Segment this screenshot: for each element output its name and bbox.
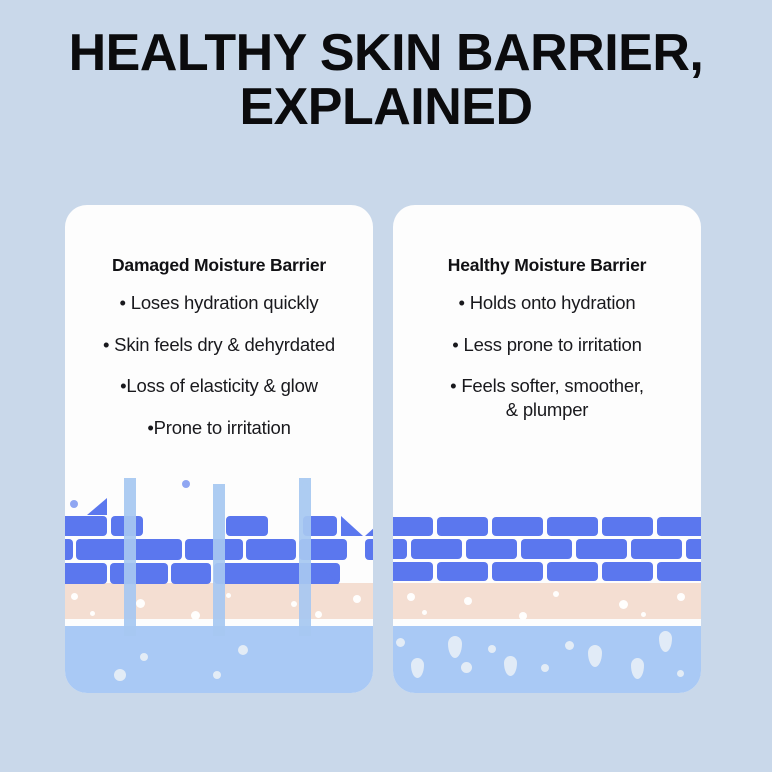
moisture-speck: [182, 480, 190, 488]
list-item: • Feels softer, smoother, & plumper: [403, 374, 691, 421]
moisture-speck: [191, 611, 200, 620]
water-speck: [677, 670, 684, 677]
moisture-speck: [519, 612, 527, 620]
water-speck: [213, 671, 221, 679]
brick: [631, 539, 682, 559]
list-item: • Loses hydration quickly: [75, 291, 363, 315]
moisture-speck: [619, 600, 628, 609]
brick: [602, 562, 653, 581]
brick: [437, 562, 488, 581]
arrow-shaft: [216, 497, 222, 636]
moisture-speck: [641, 612, 646, 617]
brick: [547, 517, 598, 536]
moisture-speck: [422, 610, 427, 615]
water-speck: [238, 645, 248, 655]
water-speck: [488, 645, 496, 653]
brick: [246, 539, 296, 560]
page-title: HEALTHY SKIN BARRIER, EXPLAINED: [0, 26, 772, 134]
brick: [547, 562, 598, 581]
brick: [492, 562, 543, 581]
moisture-speck: [90, 611, 95, 616]
list-item: • Less prone to irritation: [403, 333, 691, 357]
water-speck: [461, 662, 472, 673]
brick: [65, 516, 107, 536]
brick: [466, 539, 517, 559]
moisture-escape-arrow: [124, 478, 136, 636]
brick: [657, 517, 701, 536]
broken-brick-chip: [87, 498, 107, 515]
brick: [686, 539, 701, 559]
brick: [521, 539, 572, 559]
water-speck: [114, 669, 126, 681]
moisture-speck: [291, 601, 297, 607]
moisture-speck: [315, 611, 322, 618]
card-healthy-barrier: Healthy Moisture Barrier • Holds onto hy…: [393, 205, 701, 693]
brick: [393, 539, 407, 559]
brick: [411, 539, 462, 559]
moisture-speck: [677, 593, 685, 601]
brick: [65, 539, 73, 560]
brick: [492, 517, 543, 536]
brick: [657, 562, 701, 581]
broken-brick-chip: [365, 516, 373, 536]
arrow-shaft: [127, 491, 133, 636]
moisture-escape-arrow: [213, 484, 225, 636]
arrow-shaft: [302, 491, 308, 636]
water-reservoir-layer: [393, 626, 701, 693]
bullet-list-damaged: • Loses hydration quickly • Skin feels d…: [75, 291, 363, 440]
brick: [437, 517, 488, 536]
water-speck: [565, 641, 574, 650]
moisture-speck: [553, 591, 559, 597]
broken-brick-chip: [341, 516, 363, 536]
card-title-healthy: Healthy Moisture Barrier: [393, 255, 701, 276]
water-reservoir-layer: [65, 626, 373, 693]
list-item: •Prone to irritation: [75, 416, 363, 440]
moisture-speck: [136, 599, 145, 608]
brick: [171, 563, 211, 584]
water-speck: [140, 653, 148, 661]
bullet-list-healthy: • Holds onto hydration • Less prone to i…: [403, 291, 691, 422]
moisture-speck: [226, 593, 231, 598]
list-item: • Skin feels dry & dehyrdated: [75, 333, 363, 357]
brick: [602, 517, 653, 536]
moisture-speck: [70, 500, 78, 508]
brick: [226, 516, 268, 536]
list-item: • Holds onto hydration: [403, 291, 691, 315]
healthy-barrier-illustration: [393, 473, 701, 693]
water-speck: [396, 638, 405, 647]
water-speck: [541, 664, 549, 672]
damaged-barrier-illustration: [65, 473, 373, 693]
moisture-speck: [407, 593, 415, 601]
card-damaged-barrier: Damaged Moisture Barrier • Loses hydrati…: [65, 205, 373, 693]
moisture-speck: [464, 597, 472, 605]
moisture-speck: [71, 593, 78, 600]
card-title-damaged: Damaged Moisture Barrier: [65, 255, 373, 276]
moisture-escape-arrow: [299, 478, 311, 636]
brick: [576, 539, 627, 559]
brick: [110, 563, 168, 584]
brick: [365, 539, 373, 560]
list-item: •Loss of elasticity & glow: [75, 374, 363, 398]
brick: [393, 517, 433, 536]
brick: [393, 562, 433, 581]
brick: [65, 563, 107, 584]
moisture-speck: [353, 595, 361, 603]
dermis-layer: [393, 583, 701, 619]
